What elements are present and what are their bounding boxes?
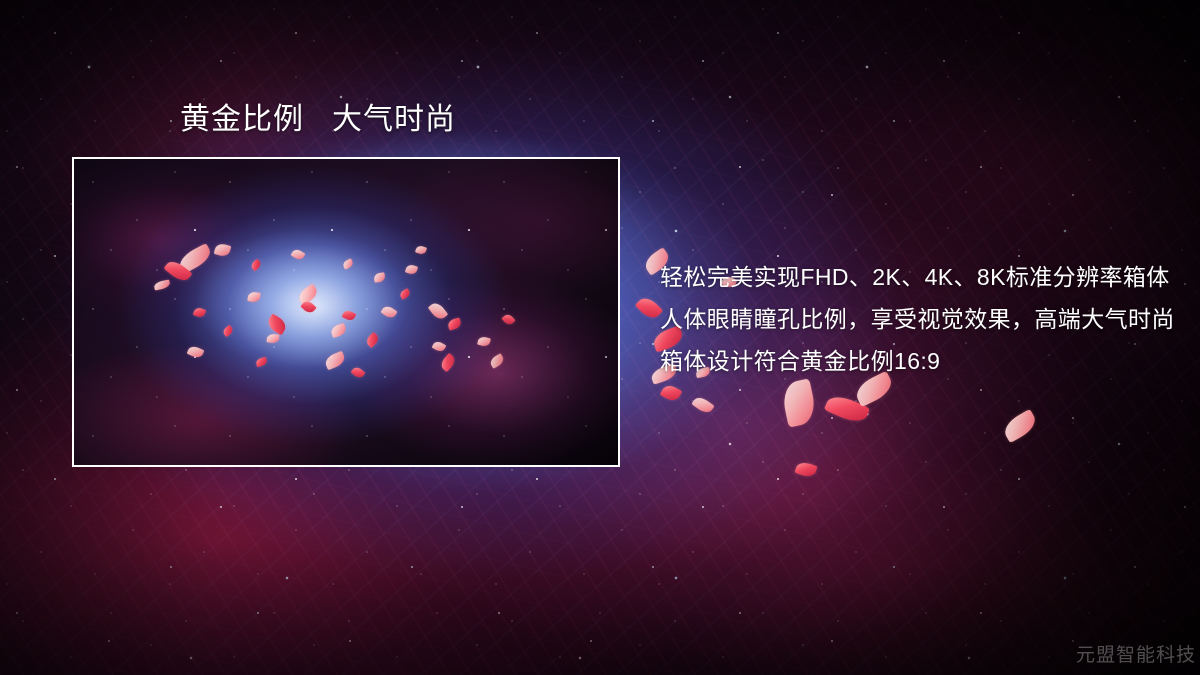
petal <box>1000 409 1039 443</box>
body-line-1: 轻松完美实现FHD、2K、4K、8K标准分辨率箱体 <box>660 256 1180 298</box>
petal <box>794 460 817 479</box>
petal <box>780 378 818 427</box>
body-text-block: 轻松完美实现FHD、2K、4K、8K标准分辨率箱体 人体眼睛瞳孔比例，享受视觉效… <box>660 256 1180 382</box>
petal <box>824 391 871 426</box>
presentation-slide: 黄金比例 大气时尚 轻松完美实现FHD、2K、4K、8K标准分辨率箱体 人体眼睛… <box>0 0 1200 675</box>
petal <box>660 382 683 403</box>
framed-nebula-photo <box>72 157 620 467</box>
slide-title: 黄金比例 大气时尚 <box>180 100 456 139</box>
watermark: 元盟智能科技 <box>1076 640 1196 667</box>
body-line-3: 箱体设计符合黄金比例16:9 <box>660 340 1180 382</box>
petal <box>691 394 714 415</box>
petal <box>635 294 663 322</box>
photo-inner <box>74 159 618 465</box>
body-line-2: 人体眼睛瞳孔比例，享受视觉效果，高端大气时尚 <box>660 298 1180 340</box>
photo-vignette <box>74 159 618 465</box>
